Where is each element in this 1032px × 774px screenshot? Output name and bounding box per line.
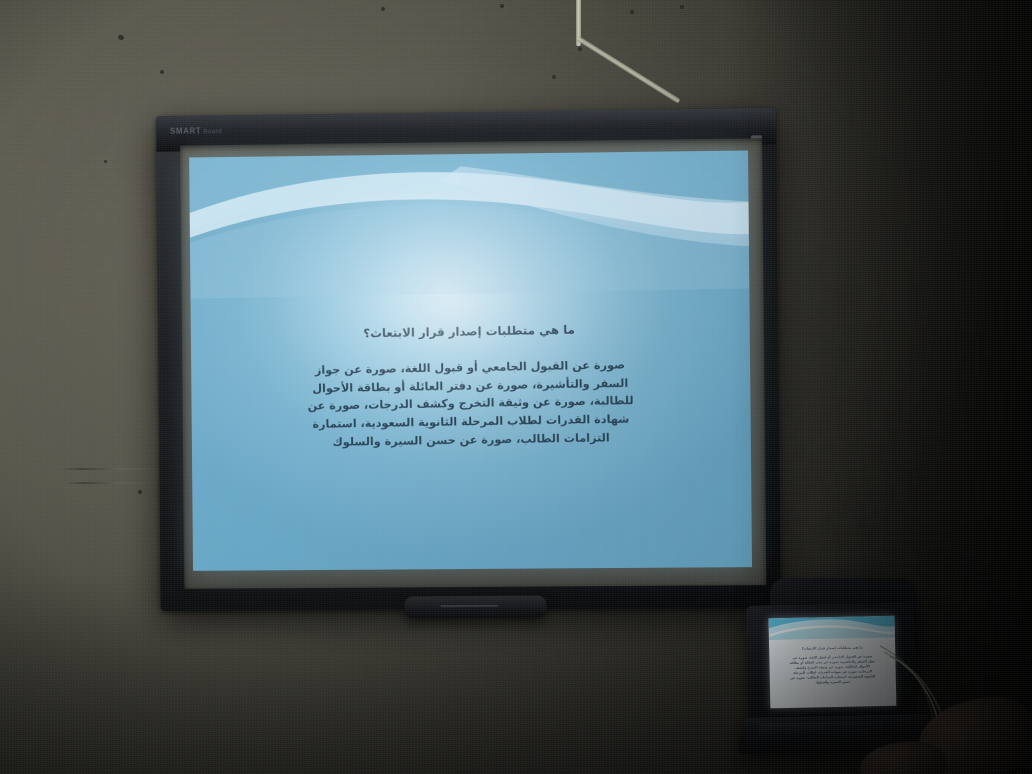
brand-sub: Board <box>203 128 222 135</box>
slide-paragraph: صورة عن القبول الجامعي أو قبول اللغة، صو… <box>302 356 640 453</box>
wall-seam <box>60 468 170 470</box>
wall-mark <box>160 70 164 74</box>
wall-mark <box>680 5 684 9</box>
cable-conduit-diagonal <box>576 36 680 104</box>
wall-mark <box>381 7 385 11</box>
smart-board-logo: SMARTBoard <box>170 126 222 136</box>
pen-tray[interactable] <box>404 596 546 619</box>
pen-tray-slot <box>441 605 499 607</box>
laptop-screen[interactable]: ما هي متطلبات إصدار قرار الابتعاث؟ صورة … <box>769 616 897 709</box>
wall-mark <box>117 34 125 41</box>
wall-mark <box>138 490 142 494</box>
wall-mark <box>500 4 504 8</box>
wall-seam <box>66 482 162 484</box>
brand-name: SMART <box>170 126 201 135</box>
classroom-scene: SMARTBoard ما هي متطلبات إصدار قرار الاب… <box>0 0 1032 774</box>
slide-title: ما هي متطلبات إصدار قرار الابتعاث؟ <box>363 323 575 341</box>
projected-slide[interactable]: ما هي متطلبات إصدار قرار الابتعاث؟ صورة … <box>189 150 752 570</box>
laptop-keyboard[interactable] <box>757 721 883 740</box>
laptop-screen-glare <box>769 616 897 709</box>
slide-tilt-wrapper: ما هي متطلبات إصدار قرار الابتعاث؟ صورة … <box>189 150 752 570</box>
wall-mark <box>104 160 107 163</box>
slide-content: ما هي متطلبات إصدار قرار الابتعاث؟ صورة … <box>189 150 752 570</box>
wall-mark <box>630 10 634 14</box>
wall-mark <box>552 75 556 79</box>
wall-mark <box>578 47 582 51</box>
smart-board[interactable]: SMARTBoard ما هي متطلبات إصدار قرار الاب… <box>156 108 781 611</box>
